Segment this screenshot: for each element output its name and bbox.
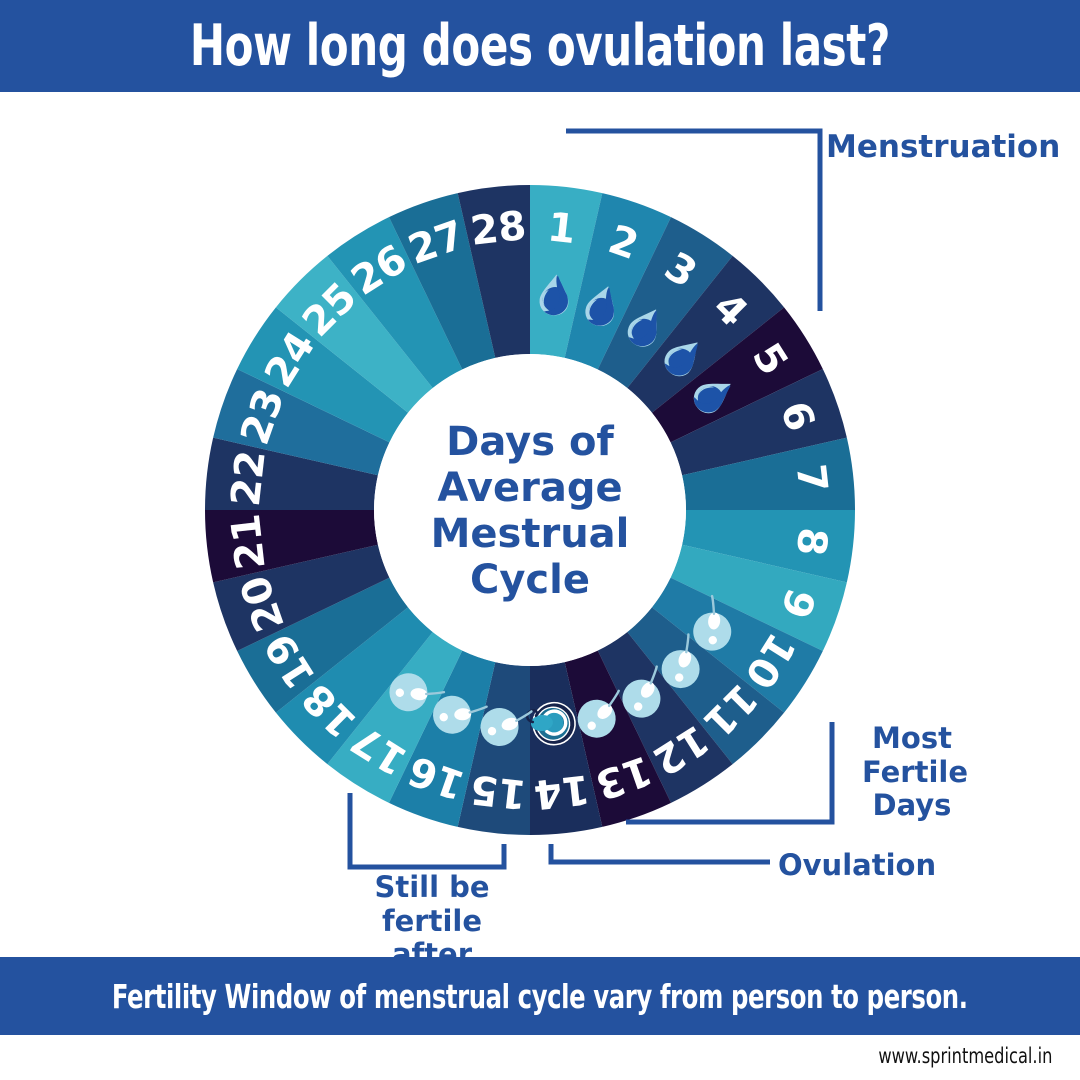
day-number-15: 15 — [468, 765, 528, 817]
hub-line-3: Mestrual — [431, 511, 630, 557]
infographic-canvas: How long does ovulation last? — [0, 0, 1080, 1080]
day-number-28: 28 — [468, 203, 528, 255]
day-number-21: 21 — [223, 511, 275, 571]
bracket-ovulation — [551, 844, 770, 862]
footer-note: Fertility Window of menstrual cycle vary… — [112, 977, 968, 1016]
callout-most-fertile-line-2: Fertile — [862, 756, 962, 790]
hub-line-2: Average — [437, 465, 622, 511]
callout-still-fertile-line-1: Still be fertile — [327, 871, 537, 938]
site-url: www.sprintmedical.in — [878, 1044, 1052, 1068]
callout-most-fertile-line-1: Most — [862, 722, 962, 756]
day-number-8: 8 — [787, 525, 836, 558]
day-number-22: 22 — [223, 448, 275, 508]
hub-line-4: Cycle — [470, 557, 590, 603]
callout-ovulation: Ovulation — [778, 849, 936, 883]
callout-most-fertile-line-3: Days — [862, 789, 962, 823]
callout-menstruation: Menstruation — [826, 130, 1060, 166]
day-number-7: 7 — [787, 462, 836, 495]
hub-line-1: Days of — [446, 419, 614, 465]
footer-banner: Fertility Window of menstrual cycle vary… — [0, 957, 1080, 1035]
callout-most-fertile: Most Fertile Days — [862, 722, 962, 823]
day-number-14: 14 — [531, 765, 591, 817]
day-number-1: 1 — [545, 204, 578, 253]
